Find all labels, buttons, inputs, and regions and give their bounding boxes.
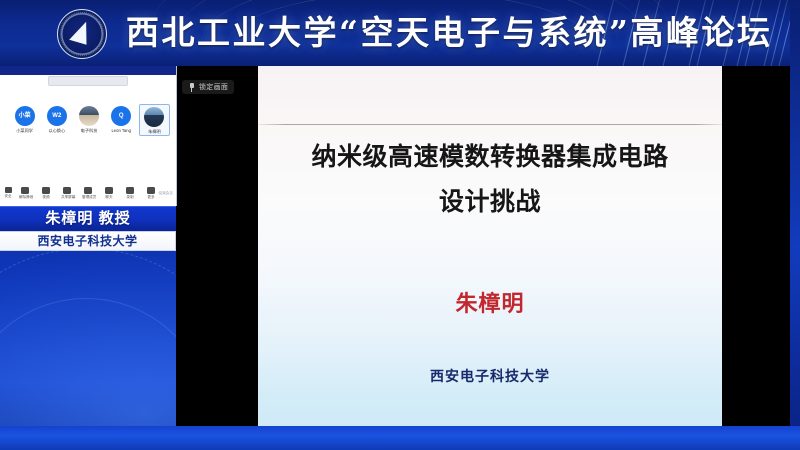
presentation-slide: 纳米级高速模数转换器集成电路 设计挑战 朱樟明 西安电子科技大学 <box>258 66 722 426</box>
avatar: W2 <box>47 106 67 126</box>
emblem-aircraft-glyph <box>71 21 93 45</box>
bottom-band <box>0 426 800 450</box>
toolbar-label: 录制 <box>124 195 136 200</box>
share-screen-icon <box>63 187 71 194</box>
toolbar-members-button[interactable]: 管理成员 <box>82 187 94 200</box>
lower-third-name: 朱樟明 教授 <box>0 206 176 231</box>
meeting-toolbar: 解除静音 视频 共享屏幕 管理成员 聊天 录制 <box>0 187 176 200</box>
lower-third: 朱樟明 教授 西安电子科技大学 <box>0 206 176 251</box>
pin-icon <box>188 83 195 92</box>
microphone-icon <box>21 187 29 194</box>
participant-tile-active-speaker[interactable]: 朱樟明 <box>139 104 170 136</box>
lock-screen-label: 锁定画面 <box>199 82 228 92</box>
camera-icon <box>42 187 50 194</box>
toolbar-more-button[interactable]: 更多 <box>145 187 157 200</box>
event-banner: 西北工业大学“空天电子与系统”高峰论坛 <box>0 0 800 68</box>
meeting-titlebar <box>0 66 176 75</box>
avatar <box>79 106 99 126</box>
avatar: Q <box>111 106 131 126</box>
slide-affiliation: 西安电子科技大学 <box>258 366 722 386</box>
record-icon <box>126 187 134 194</box>
toolbar-share-screen-button[interactable]: 共享屏幕 <box>61 187 73 200</box>
end-meeting-button[interactable]: 结束会议 <box>159 191 173 196</box>
participant-tile[interactable]: 电子科技 <box>74 104 103 136</box>
lower-third-affiliation: 西安电子科技大学 <box>0 231 176 251</box>
event-title: 西北工业大学“空天电子与系统”高峰论坛 <box>126 9 772 57</box>
participant-grid: 小菜 小菜同学 W2 以心换心 电子科技 Q Leon Tang 朱樟明 <box>10 104 170 136</box>
slide-title: 纳米级高速模数转换器集成电路 设计挑战 <box>258 134 722 224</box>
participant-tile[interactable]: W2 以心换心 <box>42 104 71 136</box>
more-icon <box>147 187 155 194</box>
avatar <box>144 107 164 127</box>
toolbar-label: 更多 <box>145 195 157 200</box>
toolbar-video-button[interactable]: 视频 <box>40 187 52 200</box>
slide-divider <box>258 124 722 125</box>
lock-screen-button[interactable]: 锁定画面 <box>182 80 234 94</box>
toolbar-chat-button[interactable]: 聊天 <box>103 187 115 200</box>
slide-title-line-1: 纳米级高速模数转换器集成电路 <box>258 134 722 179</box>
toolbar-label: 共享屏幕 <box>61 195 73 200</box>
toolbar-label: 解除静音 <box>19 195 31 200</box>
meeting-topic-pill <box>48 76 128 86</box>
right-edge-band <box>790 0 800 450</box>
avatar: 小菜 <box>15 106 35 126</box>
toolbar-record-button[interactable]: 录制 <box>124 187 136 200</box>
toolbar-label: 聊天 <box>103 195 115 200</box>
toolbar-label: 管理成员 <box>82 195 94 200</box>
slide-title-line-2: 设计挑战 <box>258 179 722 224</box>
screenshot-stage: 西北工业大学“空天电子与系统”高峰论坛 纳米级高速模数转换器集成电路 设计挑战 … <box>0 0 800 450</box>
participant-tile[interactable]: Q Leon Tang <box>107 104 136 136</box>
participant-name: 电子科技 <box>74 128 103 134</box>
nwpu-university-emblem-icon <box>57 9 107 59</box>
participant-name: Leon Tang <box>107 128 136 134</box>
chat-icon <box>105 187 113 194</box>
toolbar-mute-button[interactable]: 解除静音 <box>19 187 31 200</box>
members-icon <box>84 187 92 194</box>
participant-name: 以心换心 <box>42 128 71 134</box>
participant-name: 小菜同学 <box>10 128 39 134</box>
participant-tile[interactable]: 小菜 小菜同学 <box>10 104 39 136</box>
participant-name: 朱樟明 <box>140 129 169 135</box>
toolbar-label: 视频 <box>40 195 52 200</box>
slide-speaker-name: 朱樟明 <box>258 286 722 318</box>
meeting-client-window: 小菜 小菜同学 W2 以心换心 电子科技 Q Leon Tang 朱樟明 安全 <box>0 66 177 206</box>
